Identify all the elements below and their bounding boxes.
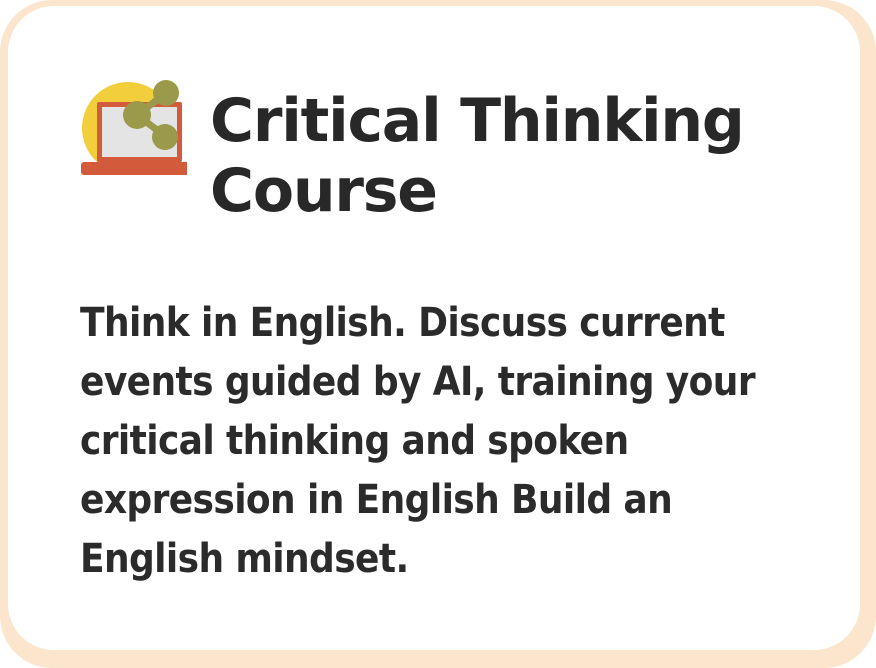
course-card[interactable]: Critical Thinking Course Think in Englis… — [8, 6, 860, 650]
page-title: Critical Thinking Course — [210, 86, 810, 226]
course-description: Think in English. Discuss current events… — [80, 294, 780, 589]
card-outer-frame: Critical Thinking Course Think in Englis… — [0, 0, 876, 668]
icon-laptop-base — [81, 162, 187, 175]
critical-thinking-course-icon — [75, 80, 187, 176]
